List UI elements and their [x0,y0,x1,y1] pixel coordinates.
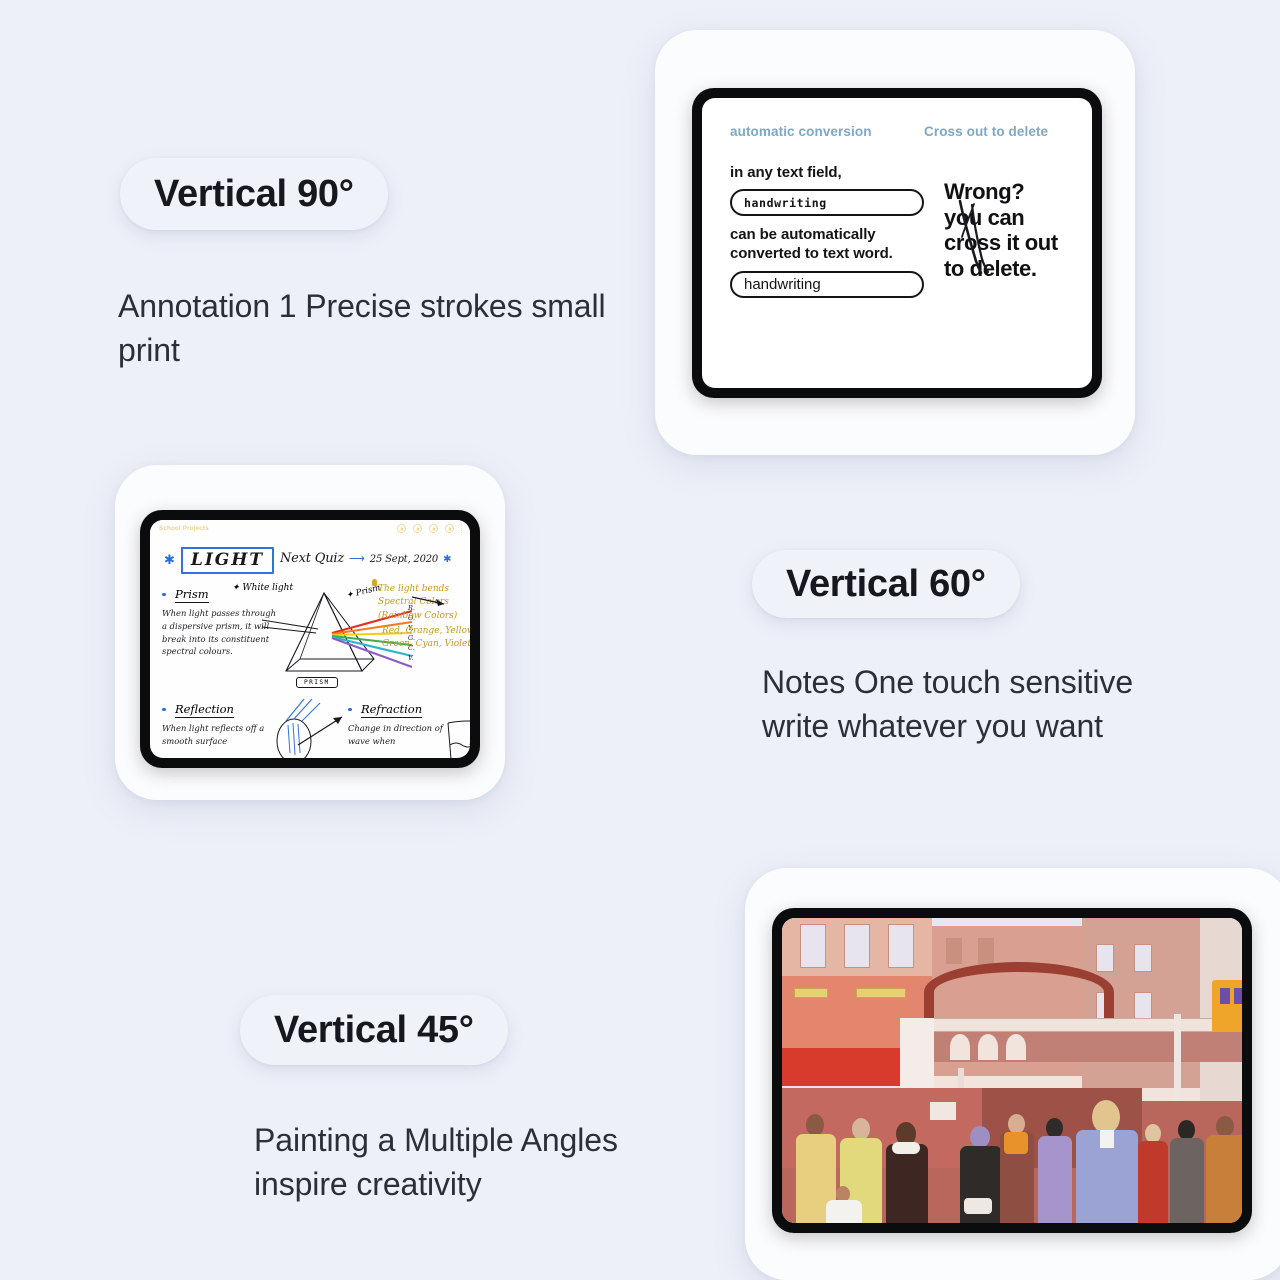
converted-text-value: handwriting [744,276,821,293]
notes-canvas[interactable]: ✱ LIGHT Next Quiz ⟶ 25 Sept, 2020 ✱ [150,537,470,758]
device-card-handwriting: automatic conversion Cross out to delete… [655,30,1135,455]
heading-automatic-conversion: automatic conversion [730,124,924,139]
poster-sign [930,1102,956,1120]
note-title-box: LIGHT [181,547,274,574]
gold-trim [856,988,906,998]
pedestrian [1000,1114,1034,1223]
cross-out-line-2: you can [944,205,1064,231]
section-body-reflection: When light reflects off a smooth surface [162,722,272,748]
reflection-diagram [268,697,350,758]
window [800,924,826,968]
pen-tool-icon[interactable] [397,524,406,533]
section-heading-refraction: Refraction [361,702,422,718]
ray-label-v: V. [408,653,415,663]
spacer [730,216,924,225]
bullet-icon [162,593,166,597]
notes-screen: School Projects ✱ LIGHT [150,520,470,758]
star-icon: ✱ [443,555,451,565]
section-heading-row: Reflection [162,700,272,718]
arrow-right-icon: ⟶ [349,552,365,565]
gold-trim [794,988,828,998]
quiz-date: 25 Sept, 2020 [370,554,438,565]
device-card-notes: School Projects ✱ LIGHT [115,465,505,800]
badge-label: Vertical 45° [274,1009,474,1052]
diagram-tag-prism: PRISM [296,677,338,688]
annotation-colour-list: Red, Orange, Yellow, Green, Cyan, Violet… [382,625,470,652]
scarf [1004,1132,1028,1154]
pedestrian [960,1126,1002,1223]
pedestrian-child [826,1186,862,1223]
torso [1206,1135,1242,1223]
converted-text-field[interactable]: handwriting [730,271,924,298]
caption-painting: Painting a Multiple Angles inspire creat… [254,1118,694,1206]
window [978,938,994,964]
pedestrian [886,1122,928,1223]
head [1046,1118,1063,1138]
window [946,938,962,964]
bullet-icon [162,708,166,712]
head [1092,1100,1120,1134]
tablet-painting [772,908,1252,1233]
pedestrian-foreground [1076,1100,1138,1223]
handwriting-headings: automatic conversion Cross out to delete [730,124,1064,139]
viaduct-railing [902,1018,1242,1032]
head [1008,1114,1025,1134]
quiz-reminder-group: Next Quiz ⟶ 25 Sept, 2020 ✱ [280,551,451,566]
pedestrian [1038,1118,1072,1223]
window [1096,944,1114,972]
badge-label: Vertical 60° [786,563,986,606]
star-icon: ✱ [164,554,175,567]
bullet-icon [348,708,352,712]
tablet-handwriting: automatic conversion Cross out to delete… [692,88,1102,398]
shirt [1100,1130,1114,1148]
section-heading-reflection: Reflection [175,702,234,718]
device-card-painting [745,868,1280,1280]
window [844,924,870,968]
window [888,924,914,968]
note-title-group: ✱ LIGHT [164,547,274,574]
automatic-conversion-column: in any text field, handwriting can be au… [730,163,924,298]
eraser-tool-icon[interactable] [413,524,422,533]
pointer-arrow-icon [412,593,454,609]
torso [826,1200,862,1223]
head [806,1114,824,1136]
cross-out-line-4: to delete. [944,256,1064,282]
viaduct-arch-structure [924,962,1114,1022]
head [970,1126,990,1148]
head [852,1118,870,1140]
cross-out-column: Wrong? you can cross it out to delete. [924,163,1064,298]
shapes-tool-icon[interactable] [445,524,454,533]
train-window [1220,988,1230,1004]
caption-annotation: Annotation 1 Precise strokes small print [118,284,638,372]
torso [1138,1141,1168,1223]
badge-vertical-45: Vertical 45° [240,995,508,1065]
pedestrian [1206,1116,1242,1223]
lightbulb-icon [372,579,377,586]
torso [1170,1138,1204,1223]
text-in-any-text-field: in any text field, [730,163,924,182]
cross-out-text-block: Wrong? you can cross it out to delete. [944,179,1064,281]
handwriting-screen: automatic conversion Cross out to delete… [702,98,1092,388]
head [1178,1120,1195,1140]
text-can-be-automatically-converted: can be automatically converted to text w… [730,225,924,263]
bag [964,1198,992,1214]
window [1134,992,1152,1020]
station-entrance [900,1018,934,1088]
section-heading-prism: Prism [175,587,209,603]
caption-notes: Notes One touch sensitive write whatever… [762,660,1182,748]
heading-cross-out-to-delete: Cross out to delete [924,124,1048,139]
badge-vertical-90: Vertical 90° [120,158,388,230]
scarf [892,1142,920,1154]
cross-out-line-1: Wrong? [944,179,1064,205]
viaduct-arch-small [978,1034,998,1060]
handwriting-input-field[interactable]: handwriting [730,189,924,216]
painting-screen [782,918,1242,1223]
city-street-illustration [782,918,1242,1223]
notes-toolbar: School Projects [150,520,470,537]
badge-vertical-60: Vertical 60° [752,550,1020,618]
cross-out-line-3: cross it out [944,230,1064,256]
note-title: LIGHT [191,550,264,570]
viaduct-arch-small [1006,1034,1026,1060]
pedestrian [1170,1120,1204,1223]
notes-app-title: School Projects [159,525,209,532]
refraction-glass-diagram [440,705,470,758]
torso [1038,1136,1072,1223]
head [1216,1116,1234,1137]
pedestrian [1138,1124,1168,1223]
quiz-label: Next Quiz [280,551,344,566]
badge-label: Vertical 90° [154,173,354,216]
lasso-tool-icon[interactable] [429,524,438,533]
torso [886,1144,928,1223]
notes-tool-group [397,524,463,533]
more-tools-icon[interactable] [461,524,463,533]
note-section-reflection: Reflection When light reflects off a smo… [162,700,272,748]
window [1134,944,1152,972]
handwriting-columns: in any text field, handwriting can be au… [730,163,1064,298]
train-window [1234,988,1242,1004]
handwriting-input-value: handwriting [744,196,827,210]
viaduct-arch-small [950,1034,970,1060]
tablet-notes: School Projects ✱ LIGHT [140,510,480,768]
